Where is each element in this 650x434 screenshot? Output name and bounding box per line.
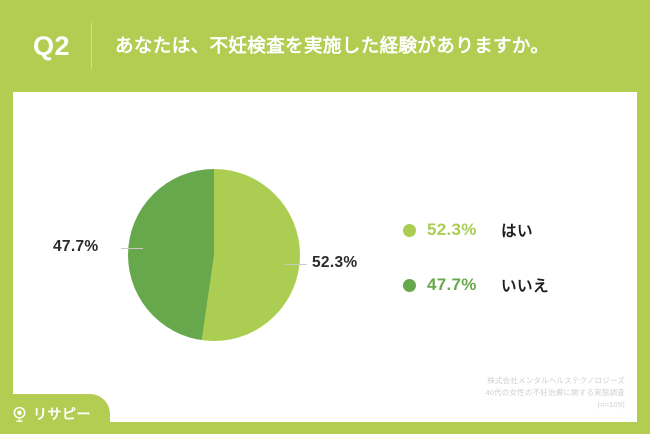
- pie-slices: [128, 169, 300, 341]
- leader-line-left: [121, 248, 143, 249]
- search-pin-icon: [11, 406, 28, 423]
- legend-item-yes: 52.3% はい: [403, 217, 633, 243]
- source-sample-size: (n=109): [485, 399, 625, 411]
- legend-dot-no: [403, 279, 416, 292]
- brand-logo: リサピー: [0, 394, 110, 434]
- question-title: あなたは、不妊検査を実施した経験がありますか。: [115, 35, 549, 57]
- legend-label-yes: はい: [501, 219, 533, 241]
- pie-data-label-no: 47.7%: [53, 238, 98, 256]
- source-note: 株式会社メンタルヘルステクノロジーズ 40代の女性の不妊治療に関する実態調査 (…: [485, 375, 625, 411]
- question-header: Q2 あなたは、不妊検査を実施した経験がありますか。: [0, 0, 650, 92]
- legend-percent-no: 47.7%: [427, 275, 501, 295]
- question-number: Q2: [33, 33, 79, 60]
- header-divider: [91, 23, 92, 69]
- source-survey: 40代の女性の不妊治療に関する実態調査: [485, 387, 625, 399]
- content-card: 47.7% 52.3% 52.3% はい 47.7% いいえ 株式会社メンタルヘ…: [13, 92, 637, 422]
- legend-dot-yes: [403, 224, 416, 237]
- chart-legend: 52.3% はい 47.7% いいえ: [403, 217, 633, 327]
- pie-data-label-yes: 52.3%: [312, 254, 357, 272]
- survey-result-card: Q2 あなたは、不妊検査を実施した経験がありますか。 47.7% 52.3% 5…: [0, 0, 650, 434]
- source-company: 株式会社メンタルヘルステクノロジーズ: [485, 375, 625, 387]
- brand-name: リサピー: [33, 404, 91, 424]
- legend-item-no: 47.7% いいえ: [403, 272, 633, 298]
- pie-chart: 47.7% 52.3%: [13, 92, 403, 392]
- legend-percent-yes: 52.3%: [427, 220, 501, 240]
- legend-label-no: いいえ: [501, 274, 549, 296]
- leader-line-right: [285, 264, 307, 265]
